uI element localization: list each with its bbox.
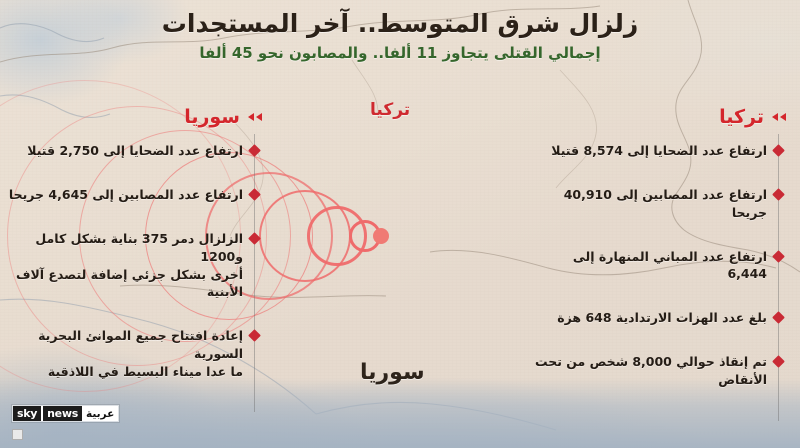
stat-item-text: ارتفاع عدد المصابين إلى 4,645 جريحا [8,186,243,204]
sky-news-arabia-logo: sky news عربية [12,405,119,422]
page-subtitle: إجمالي القتلى يتجاوز 11 ألفا.. والمصابون… [0,44,800,64]
stat-item-text: ارتفاع عدد المصابين إلى 40,910 جريحا [532,186,767,222]
stat-item-line: ارتفاع عدد الضحايا إلى 8,574 قتيلا [532,142,767,160]
infographic-root: زلزال شرق المتوسط.. آخر المستجدات إجمالي… [0,0,800,448]
stat-item-line: الزلزال دمر 375 بناية بشكل كامل و1200 [8,230,243,266]
diamond-bullet-icon [772,188,785,201]
stat-item-text: إعادة افتتاح جميع الموانئ البحرية السوري… [8,327,243,380]
column-turkey: تركيا ارتفاع عدد الضحايا إلى 8,574 قتيلا… [532,104,792,415]
epicenter-core-dot [373,228,389,244]
diamond-bullet-icon [772,355,785,368]
stat-item: تم إنقاذ حوالي 8,000 شخص من تحت الأنقاض [532,353,792,389]
stat-item: ارتفاع عدد الضحايا إلى 8,574 قتيلا [532,142,792,160]
column-title-syria: سوريا [184,106,240,128]
stat-item: ارتفاع عدد المباني المنهارة إلى 6,444 [532,248,792,284]
stat-item: إعادة افتتاح جميع الموانئ البحرية السوري… [8,327,268,380]
diamond-bullet-icon [248,188,261,201]
logo-text-news: news [43,406,82,421]
diamond-bullet-icon [772,250,785,263]
map-label-syria: سوريا [360,360,425,385]
stat-item-text: بلغ عدد الهزات الارتدادية 648 هزة [532,309,767,327]
diamond-bullet-icon [248,329,261,342]
stat-item-text: ارتفاع عدد المباني المنهارة إلى 6,444 [532,248,767,284]
double-arrow-left-icon [248,113,262,121]
stat-item-line: تم إنقاذ حوالي 8,000 شخص من تحت الأنقاض [532,353,767,389]
stat-item: الزلزال دمر 375 بناية بشكل كامل و1200أخر… [8,230,268,301]
stat-item-line: ما عدا ميناء البسيط في اللاذقية [8,363,243,381]
diamond-bullet-icon [248,232,261,245]
stat-item: ارتفاع عدد المصابين إلى 4,645 جريحا [8,186,268,204]
stat-item-line: ارتفاع عدد الضحايا إلى 2,750 قتيلا [8,142,243,160]
logo-text-sky: sky [13,406,41,421]
diamond-bullet-icon [772,311,785,324]
logo-text-arabic: عربية [82,406,118,421]
column-syria: سوريا ارتفاع عدد الضحايا إلى 2,750 قتيلا… [8,104,268,406]
diamond-bullet-icon [772,144,785,157]
stat-item-line: بلغ عدد الهزات الارتدادية 648 هزة [532,309,767,327]
stat-item-line: ارتفاع عدد المباني المنهارة إلى 6,444 [532,248,767,284]
stat-item-line: ارتفاع عدد المصابين إلى 40,910 جريحا [532,186,767,222]
stat-list-turkey: ارتفاع عدد الضحايا إلى 8,574 قتيلاارتفاع… [532,142,792,389]
page-title: زلزال شرق المتوسط.. آخر المستجدات [0,8,800,39]
stat-item-text: الزلزال دمر 375 بناية بشكل كامل و1200أخر… [8,230,243,301]
stat-list-syria: ارتفاع عدد الضحايا إلى 2,750 قتيلاارتفاع… [8,142,268,380]
stat-item: ارتفاع عدد الضحايا إلى 2,750 قتيلا [8,142,268,160]
column-header-syria: سوريا [8,104,268,130]
double-arrow-left-icon [772,113,786,121]
map-label-turkey: تركيا [370,100,410,120]
stat-item-line: ارتفاع عدد المصابين إلى 4,645 جريحا [8,186,243,204]
stat-item-text: ارتفاع عدد الضحايا إلى 2,750 قتيلا [8,142,243,160]
column-title-turkey: تركيا [719,106,764,128]
diamond-bullet-icon [248,144,261,157]
stat-item: بلغ عدد الهزات الارتدادية 648 هزة [532,309,792,327]
stat-item: ارتفاع عدد المصابين إلى 40,910 جريحا [532,186,792,222]
stat-item-line: إعادة افتتاح جميع الموانئ البحرية السوري… [8,327,243,363]
stat-item-text: تم إنقاذ حوالي 8,000 شخص من تحت الأنقاض [532,353,767,389]
header-block: زلزال شرق المتوسط.. آخر المستجدات إجمالي… [0,8,800,64]
column-header-turkey: تركيا [532,104,792,130]
logo-corner-mark [12,429,23,440]
stat-item-line: أخرى بشكل جزئي إضافة لتصدع آلاف الأبنية [8,266,243,302]
stat-item-text: ارتفاع عدد الضحايا إلى 8,574 قتيلا [532,142,767,160]
